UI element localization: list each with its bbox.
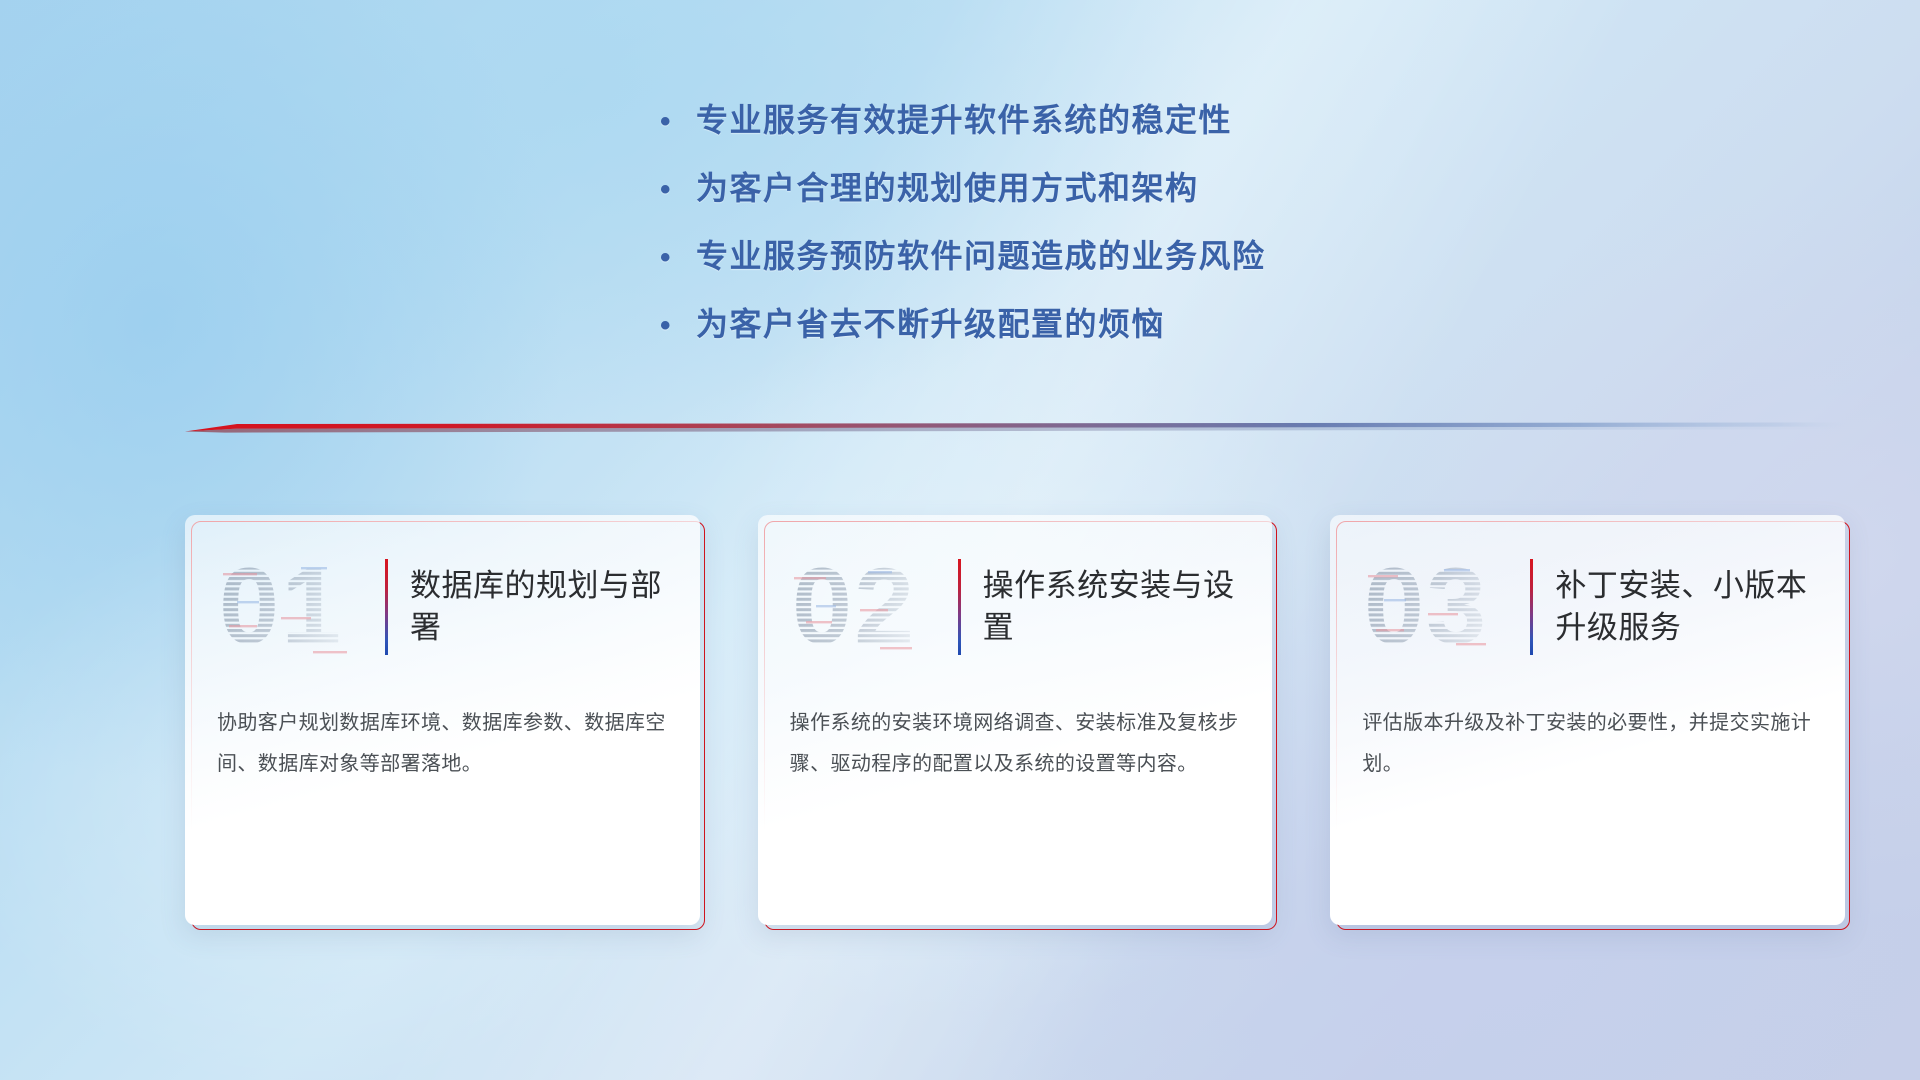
- service-card-row: 01: [185, 515, 1845, 925]
- service-card[interactable]: 01: [185, 515, 700, 925]
- card-number-striped-icon: 03: [1362, 551, 1512, 663]
- bullet-dot-icon: •: [660, 175, 696, 205]
- service-card[interactable]: 03: [1330, 515, 1845, 925]
- card-number-striped-icon: 02: [790, 551, 940, 663]
- bullet-text: 专业服务有效提升软件系统的稳定性: [696, 100, 1540, 140]
- bullet-text: 专业服务预防软件问题造成的业务风险: [696, 236, 1540, 276]
- card-body-text: 操作系统的安装环境网络调查、安装标准及复核步骤、驱动程序的配置以及系统的设置等内…: [790, 703, 1241, 785]
- card-body-text: 协助客户规划数据库环境、数据库参数、数据库空间、数据库对象等部署落地。: [217, 703, 668, 785]
- bullet-text: 为客户合理的规划使用方式和架构: [696, 168, 1540, 208]
- svg-text:02: 02: [792, 551, 916, 663]
- svg-text:03: 03: [1364, 551, 1488, 663]
- bullet-dot-icon: •: [660, 107, 696, 137]
- bullet-text: 为客户省去不断升级配置的烦恼: [696, 304, 1540, 344]
- card-panel: 03: [1330, 515, 1845, 925]
- list-item: • 为客户合理的规划使用方式和架构: [660, 168, 1540, 208]
- card-body-text: 评估版本升级及补丁安装的必要性，并提交实施计划。: [1362, 703, 1813, 785]
- card-panel: 01: [185, 515, 700, 925]
- bullet-dot-icon: •: [660, 311, 696, 341]
- card-title-divider: [958, 559, 961, 655]
- card-title: 补丁安装、小版本升级服务: [1555, 565, 1813, 649]
- bullet-dot-icon: •: [660, 243, 696, 273]
- benefits-bullet-list: • 专业服务有效提升软件系统的稳定性 • 为客户合理的规划使用方式和架构 • 专…: [660, 100, 1540, 344]
- card-title: 数据库的规划与部署: [410, 565, 668, 649]
- section-divider: [185, 415, 1845, 441]
- service-card[interactable]: 02: [758, 515, 1273, 925]
- card-title: 操作系统安装与设置: [983, 565, 1241, 649]
- list-item: • 为客户省去不断升级配置的烦恼: [660, 304, 1540, 344]
- card-header: 02: [790, 541, 1241, 673]
- card-title-divider: [385, 559, 388, 655]
- card-header: 01: [217, 541, 668, 673]
- card-panel: 02: [758, 515, 1273, 925]
- list-item: • 专业服务有效提升软件系统的稳定性: [660, 100, 1540, 140]
- slide-canvas: • 专业服务有效提升软件系统的稳定性 • 为客户合理的规划使用方式和架构 • 专…: [0, 0, 1920, 1080]
- list-item: • 专业服务预防软件问题造成的业务风险: [660, 236, 1540, 276]
- card-header: 03: [1362, 541, 1813, 673]
- card-title-divider: [1530, 559, 1533, 655]
- card-number-striped-icon: 01: [217, 551, 367, 663]
